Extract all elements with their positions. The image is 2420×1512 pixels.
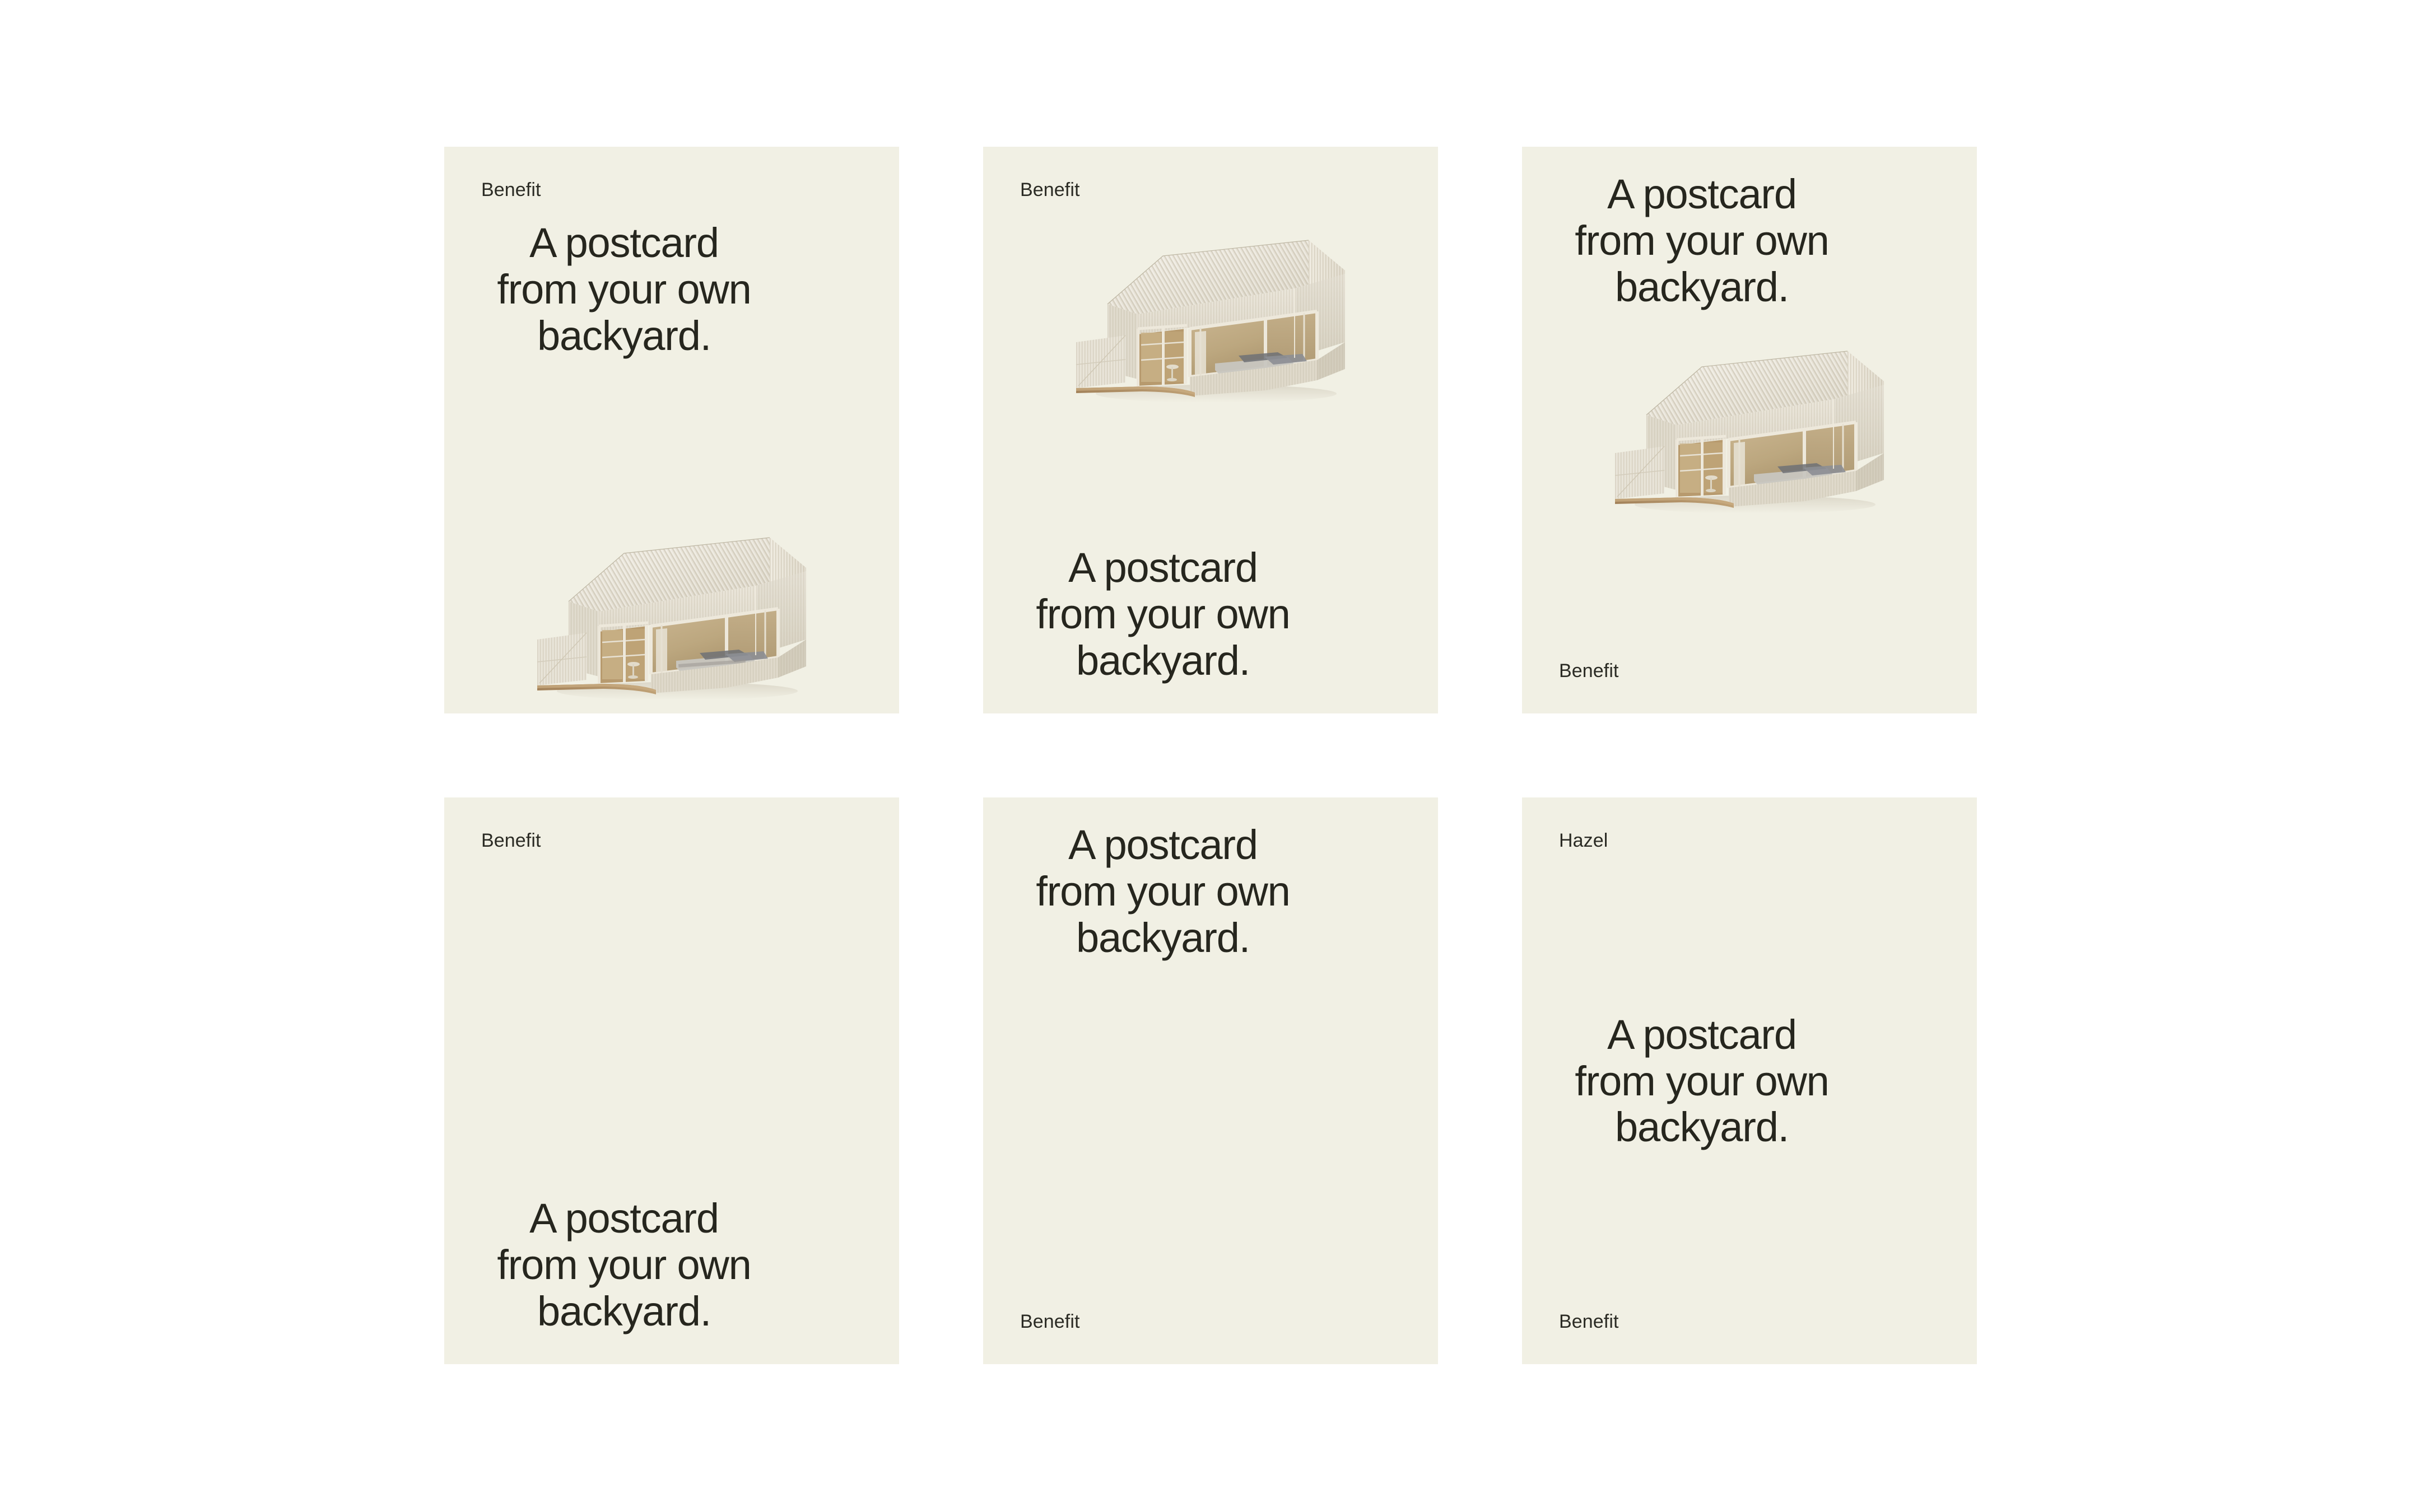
card-eyebrow-label: Benefit	[444, 179, 899, 201]
heading-line-2: from your own	[995, 591, 1330, 638]
card-heading: A postcard from your own backyard.	[983, 545, 1330, 713]
flex-spacer	[983, 416, 1438, 545]
card-eyebrow-label: Benefit	[1522, 1311, 1977, 1364]
heading-line-3: backyard.	[995, 915, 1330, 962]
flex-spacer	[983, 962, 1438, 1311]
card-eyebrow-label: Benefit	[444, 830, 899, 852]
heading-line-2: from your own	[1534, 1058, 1869, 1105]
heading-line-2: from your own	[457, 1242, 792, 1289]
card-grid-board: Benefit A postcard from your own backyar…	[0, 0, 2420, 1512]
heading-line-2: from your own	[457, 267, 792, 313]
heading-line-2: from your own	[1534, 218, 1869, 264]
flex-spacer	[444, 360, 899, 529]
card-variant-5[interactable]: A postcard from your own backyard. Benef…	[983, 797, 1438, 1364]
heading-line-1: A postcard	[995, 545, 1330, 591]
card-image-slot	[1522, 328, 1977, 527]
flex-spacer-bottom	[1522, 1151, 1977, 1311]
card-image-slot	[983, 214, 1438, 416]
heading-line-2: from your own	[995, 869, 1330, 915]
card-variant-2[interactable]: Benefit	[983, 147, 1438, 713]
flex-spacer	[444, 852, 899, 1196]
card-variant-4[interactable]: Benefit A postcard from your own backyar…	[444, 797, 899, 1364]
flex-spacer-top	[1522, 852, 1977, 1012]
flex-spacer	[1522, 527, 1977, 660]
card-eyebrow-label: Benefit	[983, 1311, 1438, 1364]
card-eyebrow-label: Benefit	[1522, 660, 1977, 713]
card-heading: A postcard from your own backyard.	[444, 220, 792, 360]
heading-line-1: A postcard	[1534, 1012, 1869, 1058]
card-image-slot	[444, 529, 899, 713]
card-variant-1[interactable]: Benefit A postcard from your own backyar…	[444, 147, 899, 713]
card-grid: Benefit A postcard from your own backyar…	[444, 147, 1977, 1364]
heading-line-1: A postcard	[457, 1196, 792, 1242]
card-heading: A postcard from your own backyard.	[1522, 1012, 1869, 1151]
card-variant-6[interactable]: Hazel A postcard from your own backyard.…	[1522, 797, 1977, 1364]
heading-line-3: backyard.	[457, 313, 792, 360]
heading-line-3: backyard.	[1534, 264, 1869, 311]
card-heading: A postcard from your own backyard.	[444, 1196, 792, 1364]
card-heading: A postcard from your own backyard.	[983, 822, 1330, 962]
card-heading: A postcard from your own backyard.	[1522, 171, 1869, 311]
card-eyebrow-label: Benefit	[983, 179, 1438, 201]
heading-line-3: backyard.	[1534, 1104, 1869, 1151]
card-brand-label: Hazel	[1522, 830, 1977, 852]
heading-line-3: backyard.	[457, 1289, 792, 1335]
card-variant-3[interactable]: A postcard from your own backyard.	[1522, 147, 1977, 713]
prefab-cabin-image	[1054, 230, 1367, 409]
heading-line-3: backyard.	[995, 638, 1330, 684]
heading-line-1: A postcard	[995, 822, 1330, 869]
prefab-cabin-image	[1593, 341, 1906, 520]
heading-line-1: A postcard	[457, 220, 792, 267]
prefab-cabin-image	[515, 528, 829, 707]
heading-line-1: A postcard	[1534, 171, 1869, 218]
